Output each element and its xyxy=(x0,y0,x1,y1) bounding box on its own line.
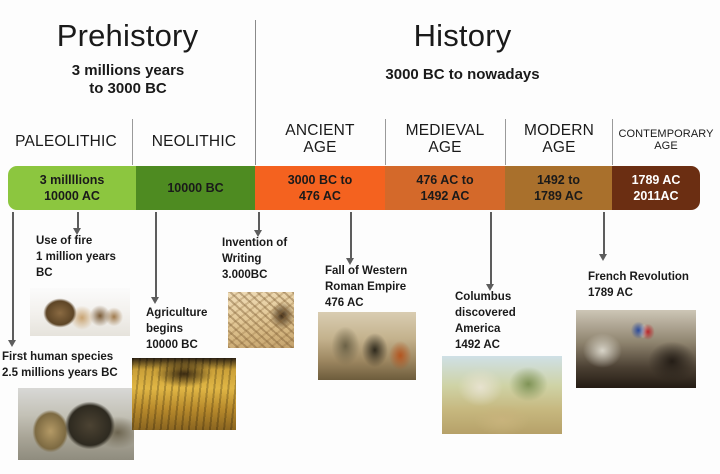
event-image-french-revolution xyxy=(576,310,696,388)
period-label-ancient-age: ANCIENT AGE xyxy=(258,122,382,157)
history-subtitle: 3000 BC to nowadays xyxy=(330,66,595,84)
period-label-paleolithic: PALEOLITHIC xyxy=(2,133,130,150)
timeline-infographic: Prehistory 3 millions years to 3000 BC H… xyxy=(0,0,720,474)
timeline-bar: 3 millllions 10000 AC 10000 BC 3000 BC t… xyxy=(8,166,700,210)
column-divider-2 xyxy=(385,119,386,165)
event-label-invention-of-writing: Invention of Writing 3.000BC xyxy=(222,236,326,284)
event-image-invention-of-writing xyxy=(228,292,294,348)
event-image-first-human-species xyxy=(18,388,134,460)
timeline-segment-contemporary-age[interactable]: 1789 AC 2011AC xyxy=(612,166,700,210)
event-image-use-of-fire xyxy=(30,288,130,336)
event-label-use-of-fire: Use of fire 1 million years BC xyxy=(36,234,148,282)
column-divider-1 xyxy=(132,119,133,165)
column-divider-4 xyxy=(612,119,613,165)
event-label-fall-of-rome: Fall of Western Roman Empire 476 AC xyxy=(325,264,435,312)
timeline-segment-paleolithic[interactable]: 3 millllions 10000 AC xyxy=(8,166,136,210)
timeline-segment-ancient-age[interactable]: 3000 BC to 476 AC xyxy=(255,166,385,210)
event-image-columbus xyxy=(442,356,562,434)
prehistory-history-divider xyxy=(255,20,256,165)
timeline-segment-neolithic[interactable]: 10000 BC xyxy=(136,166,255,210)
prehistory-title: Prehistory xyxy=(10,18,245,54)
period-label-modern-age: MODERN AGE xyxy=(508,122,610,157)
period-label-neolithic: NEOLITHIC xyxy=(135,133,253,150)
timeline-segment-modern-age[interactable]: 1492 to 1789 AC xyxy=(505,166,612,210)
column-divider-3 xyxy=(505,119,506,165)
event-image-fall-of-rome xyxy=(318,312,416,380)
event-label-columbus: Columbus discovered America 1492 AC xyxy=(455,290,547,353)
period-label-contemporary-age: CONTEMPORARY AGE xyxy=(614,128,718,153)
period-label-medieval-age: MEDIEVAL AGE xyxy=(388,122,502,157)
event-image-agriculture-begins xyxy=(132,358,236,430)
event-label-french-revolution: French Revolution 1789 AC xyxy=(588,270,712,302)
history-title: History xyxy=(350,18,575,54)
timeline-segment-medieval-age[interactable]: 476 AC to 1492 AC xyxy=(385,166,505,210)
prehistory-subtitle: 3 millions years to 3000 BC xyxy=(30,62,226,99)
